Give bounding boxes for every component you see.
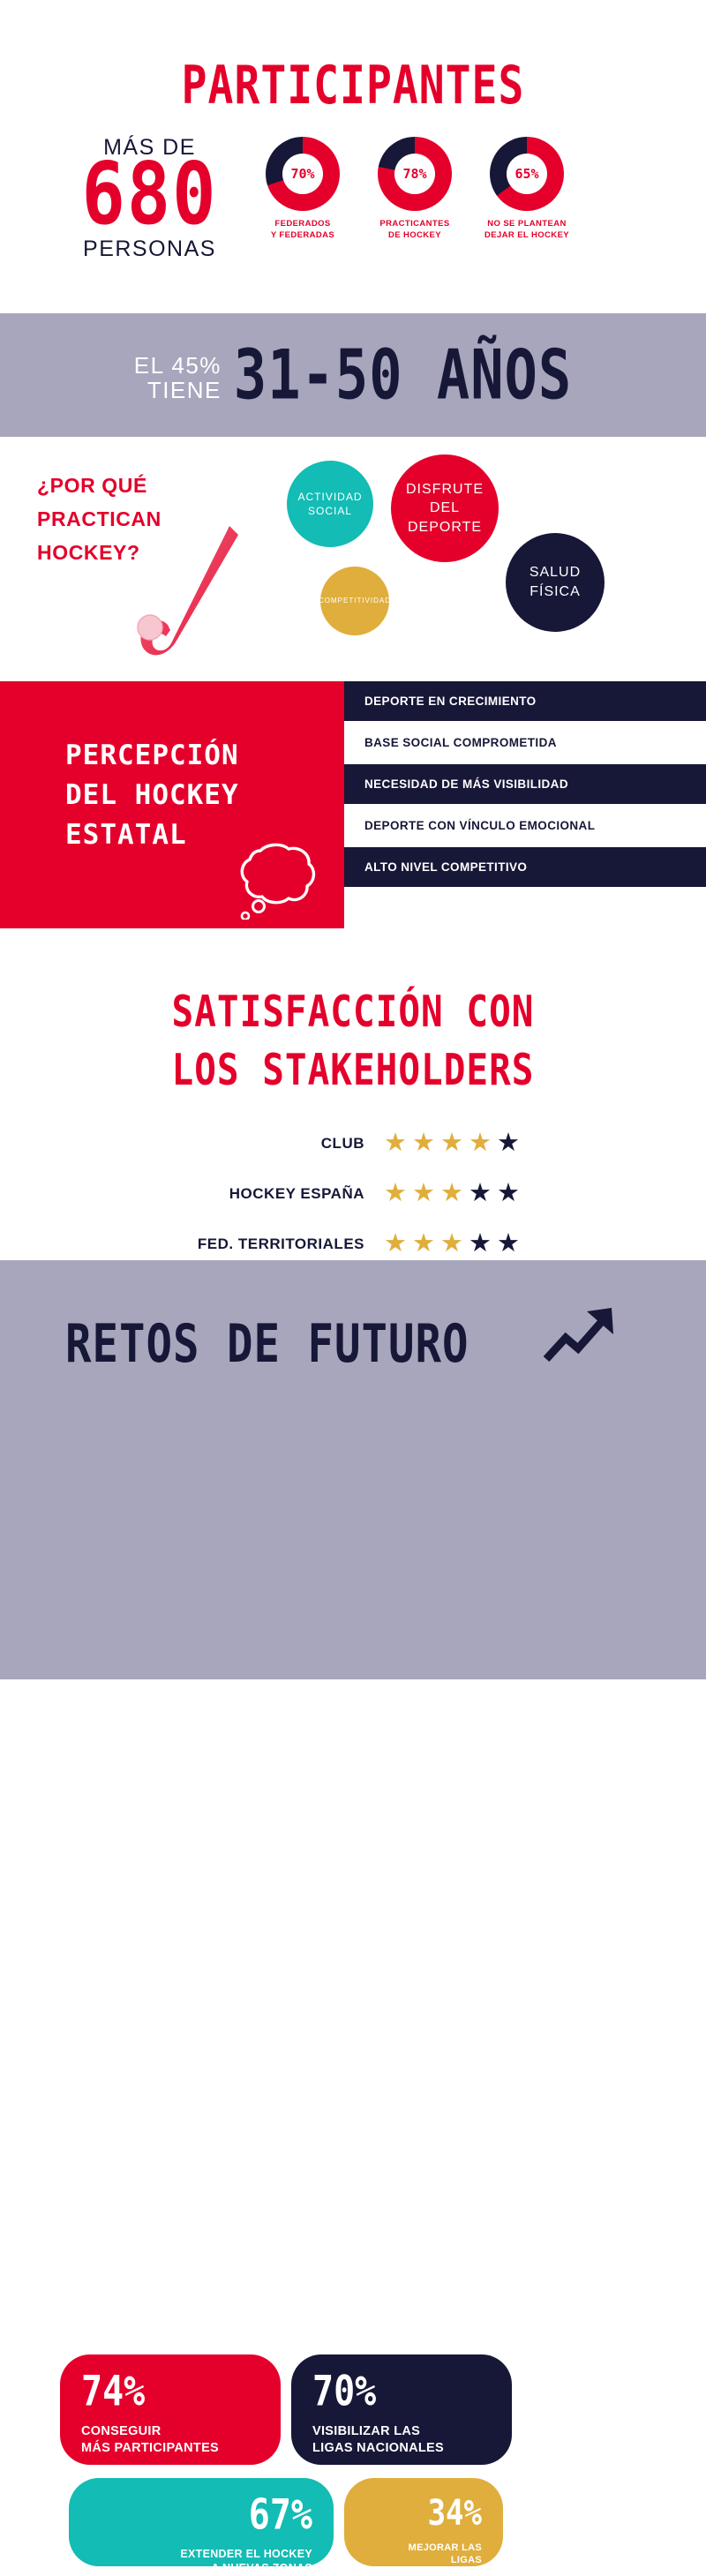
future-card-caption-line2: MÁS PARTICIPANTES	[81, 2440, 259, 2457]
donut-label-line2: DE HOCKEY	[357, 230, 472, 242]
future-card-caption-line1: VISIBILIZAR LAS	[312, 2423, 491, 2440]
star-rating-fed-territoriales: ★★★★★	[384, 1231, 587, 1257]
future-card-caption-line1: MEJORAR LAS	[365, 2542, 482, 2554]
satisfaction-row-label: CLUB	[119, 1135, 384, 1153]
bubble-label: COMPETITIVIDAD	[319, 597, 391, 606]
future-card-caption: VISIBILIZAR LAS LIGAS NACIONALES	[312, 2423, 491, 2457]
star-filled-icon: ★	[384, 1130, 407, 1156]
donut-chart-practicantes: 78% PRACTICANTES DE HOCKEY	[357, 137, 472, 242]
headline-number: 680	[55, 154, 244, 236]
age-band-content: EL 45% TIENE 31-50 AÑOS	[0, 313, 706, 437]
future-title: RETOS DE FUTURO	[65, 1313, 469, 1375]
headline-number-block: MÁS DE 680 PERSONAS	[55, 137, 244, 260]
donut-label-line2: DEJAR EL HOCKEY	[469, 230, 584, 242]
age-percent-label: EL 45%	[134, 353, 222, 378]
age-band-subtext: EL 45% TIENE	[134, 353, 222, 402]
donut-label-line1: FEDERADOS	[245, 219, 360, 230]
donut-label: PRACTICANTES DE HOCKEY	[357, 219, 472, 242]
star-empty-icon: ★	[497, 1181, 520, 1206]
star-empty-icon: ★	[469, 1181, 492, 1206]
age-tiene-label: TIENE	[134, 378, 222, 402]
perception-item-label: DEPORTE CON VÍNCULO EMOCIONAL	[364, 819, 595, 832]
future-card-caption-line1: CONSEGUIR	[81, 2423, 259, 2440]
future-card-visibilizar-ligas: 70% VISIBILIZAR LAS LIGAS NACIONALES	[291, 2354, 512, 2465]
bubble-disfrute-deporte: DISFRUTE DEL DEPORTE	[391, 454, 499, 562]
satisfaction-title: SATISFACCIÓN CON LOS STAKEHOLDERS	[0, 983, 706, 1100]
donut-center: 78%	[394, 154, 435, 194]
future-card-caption: CONSEGUIR MÁS PARTICIPANTES	[81, 2423, 259, 2457]
future-card-percent: 34%	[428, 2496, 482, 2531]
star-filled-icon: ★	[440, 1181, 463, 1206]
future-card-extender-hockey: 67% EXTENDER EL HOCKEY A NUEVAS ZONAS	[69, 2478, 334, 2566]
donut-ring: 65%	[490, 137, 564, 211]
future-card-percent: 74%	[81, 2371, 145, 2413]
perception-item-4: DEPORTE CON VÍNCULO EMOCIONAL	[344, 806, 706, 845]
section-satisfaction: SATISFACCIÓN CON LOS STAKEHOLDERS CLUB ★…	[0, 928, 706, 1260]
thought-bubble-icon	[234, 840, 322, 920]
perception-item-2: BASE SOCIAL COMPROMETIDA	[344, 723, 706, 762]
star-filled-icon: ★	[440, 1130, 463, 1156]
page-title: PARTICIPANTES	[0, 55, 706, 116]
bubble-actividad-social: ACTIVIDAD SOCIAL	[287, 461, 373, 547]
perception-item-label: ALTO NIVEL COMPETITIVO	[364, 860, 527, 874]
trending-up-arrow-icon	[543, 1304, 622, 1366]
star-empty-icon: ★	[469, 1231, 492, 1257]
star-rating-hockey-espana: ★★★★★	[384, 1181, 587, 1206]
star-empty-icon: ★	[497, 1231, 520, 1257]
future-card-percent: 70%	[312, 2371, 376, 2413]
satisfaction-row-club: CLUB ★★★★★	[0, 1118, 706, 1168]
infographic-page: PARTICIPANTES MÁS DE 680 PERSONAS 70% FE…	[0, 0, 706, 1765]
donut-ring: 78%	[378, 137, 452, 211]
why-title-line1: ¿POR QUÉ	[37, 469, 161, 503]
perception-item-1: DEPORTE EN CRECIMIENTO	[344, 681, 706, 721]
bubble-competitividad: COMPETITIVIDAD	[320, 567, 389, 635]
donut-ring: 70%	[266, 137, 340, 211]
bubble-label: ACTIVIDAD SOCIAL	[287, 490, 373, 518]
star-filled-icon: ★	[440, 1231, 463, 1257]
star-filled-icon: ★	[469, 1130, 492, 1156]
star-filled-icon: ★	[412, 1130, 435, 1156]
satisfaction-title-line2: LOS STAKEHOLDERS	[0, 1041, 706, 1100]
footer-spacer	[0, 1679, 706, 1765]
donut-value: 65%	[514, 166, 538, 182]
future-card-percent: 67%	[249, 2495, 312, 2536]
perception-title-panel: PERCEPCIÓN DEL HOCKEY ESTATAL	[0, 681, 344, 928]
age-range-headline: 31-50 AÑOS	[234, 341, 572, 409]
section-future-challenges: RETOS DE FUTURO 74% CONSEGUIR MÁS PARTIC…	[0, 1260, 706, 1679]
star-filled-icon: ★	[412, 1181, 435, 1206]
star-empty-icon: ★	[497, 1130, 520, 1156]
future-card-caption: EXTENDER EL HOCKEY A NUEVAS ZONAS	[90, 2547, 312, 2576]
satisfaction-row-label: HOCKEY ESPAÑA	[119, 1185, 384, 1203]
future-card-caption: MEJORAR LAS LIGAS	[365, 2542, 482, 2567]
star-filled-icon: ★	[384, 1231, 407, 1257]
donut-label-line1: NO SE PLANTEAN	[469, 219, 584, 230]
star-filled-icon: ★	[412, 1231, 435, 1257]
bubble-label: DISFRUTE DEL DEPORTE	[391, 480, 499, 537]
donut-value: 70%	[290, 166, 314, 182]
perception-item-label: BASE SOCIAL COMPROMETIDA	[364, 736, 557, 749]
bubble-salud-fisica: SALUD FÍSICA	[506, 533, 605, 632]
star-filled-icon: ★	[384, 1181, 407, 1206]
future-card-conseguir-participantes: 74% CONSEGUIR MÁS PARTICIPANTES	[60, 2354, 281, 2465]
perception-title-line1: PERCEPCIÓN	[65, 736, 239, 776]
donut-chart-federados: 70% FEDERADOS Y FEDERADAS	[245, 137, 360, 242]
future-card-mejorar-ligas: 34% MEJORAR LAS LIGAS	[344, 2478, 503, 2566]
section-participantes: PARTICIPANTES MÁS DE 680 PERSONAS 70% FE…	[0, 0, 706, 313]
donut-value: 78%	[402, 166, 426, 182]
bubble-label: SALUD FÍSICA	[506, 563, 605, 601]
hockey-ball-icon	[138, 615, 162, 640]
satisfaction-title-line1: SATISFACCIÓN CON	[0, 983, 706, 1041]
perception-title: PERCEPCIÓN DEL HOCKEY ESTATAL	[65, 736, 239, 855]
perception-title-line2: DEL HOCKEY	[65, 776, 239, 815]
donut-chart-no-dejar: 65% NO SE PLANTEAN DEJAR EL HOCKEY	[469, 137, 584, 242]
donut-center: 70%	[282, 154, 323, 194]
section-perception: PERCEPCIÓN DEL HOCKEY ESTATAL DEPORTE EN…	[0, 681, 706, 928]
section-age-band: EL 45% TIENE 31-50 AÑOS	[0, 313, 706, 437]
star-rating-club: ★★★★★	[384, 1130, 587, 1156]
future-card-caption-line2: A NUEVAS ZONAS	[90, 2561, 312, 2575]
future-card-caption-line1: EXTENDER EL HOCKEY	[90, 2547, 312, 2561]
perception-item-5: ALTO NIVEL COMPETITIVO	[344, 847, 706, 887]
perception-list: DEPORTE EN CRECIMIENTO BASE SOCIAL COMPR…	[344, 681, 706, 928]
satisfaction-row-label: FED. TERRITORIALES	[119, 1235, 384, 1253]
future-card-caption-line2: LIGAS NACIONALES	[312, 2440, 491, 2457]
perception-item-label: NECESIDAD DE MÁS VISIBILIDAD	[364, 777, 568, 791]
donut-label: FEDERADOS Y FEDERADAS	[245, 219, 360, 242]
hockey-stick-icon	[131, 521, 245, 671]
satisfaction-row-hockey-espana: HOCKEY ESPAÑA ★★★★★	[0, 1168, 706, 1219]
donut-label-line1: PRACTICANTES	[357, 219, 472, 230]
perception-title-line3: ESTATAL	[65, 815, 239, 855]
satisfaction-rows: CLUB ★★★★★ HOCKEY ESPAÑA ★★★★★ FED. TERR…	[0, 1118, 706, 1269]
perception-item-label: DEPORTE EN CRECIMIENTO	[364, 695, 537, 708]
donut-label: NO SE PLANTEAN DEJAR EL HOCKEY	[469, 219, 584, 242]
perception-item-3: NECESIDAD DE MÁS VISIBILIDAD	[344, 764, 706, 804]
donut-label-line2: Y FEDERADAS	[245, 230, 360, 242]
donut-center: 65%	[507, 154, 547, 194]
future-card-caption-line2: LIGAS	[365, 2554, 482, 2566]
